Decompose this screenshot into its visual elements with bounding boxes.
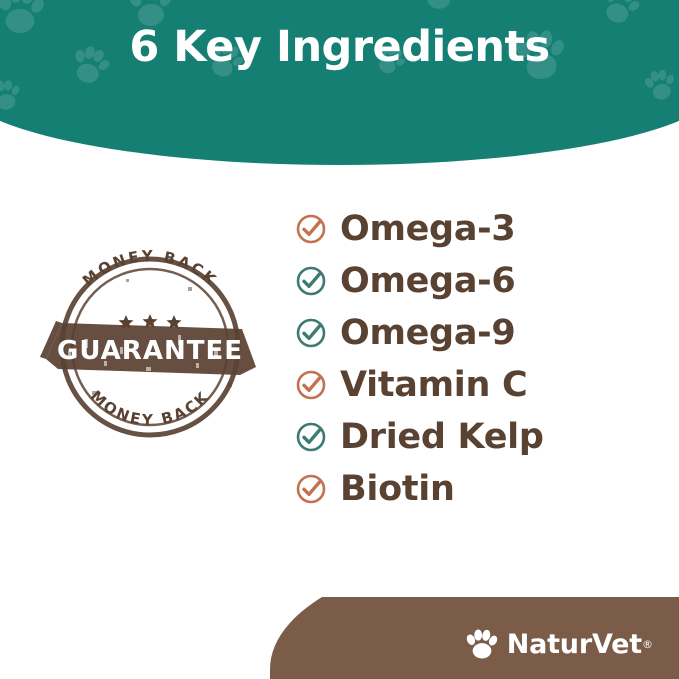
list-item: Vitamin C <box>296 361 636 409</box>
check-circle-icon <box>296 422 326 452</box>
ingredient-label: Vitamin C <box>340 365 527 405</box>
money-back-guarantee-stamp: GUARANTEE MONEY BACK MONEY BACK <box>28 243 273 443</box>
brand-lockup: NaturVet ® <box>465 627 653 661</box>
check-circle-icon <box>296 318 326 348</box>
header-banner: 6 Key Ingredients <box>0 0 679 165</box>
ingredient-label: Omega-9 <box>340 313 515 353</box>
ingredient-label: Biotin <box>340 469 455 509</box>
check-circle-icon <box>296 214 326 244</box>
key-ingredients-list: Omega-3 Omega-6 Omega-9 Vitamin C <box>296 205 636 517</box>
check-circle-icon <box>296 474 326 504</box>
list-item: Omega-9 <box>296 309 636 357</box>
list-item: Omega-6 <box>296 257 636 305</box>
paw-print-icon <box>465 627 499 661</box>
product-infographic: 6 Key Ingredients GUARANTEE MONE <box>0 0 679 679</box>
check-circle-icon <box>296 370 326 400</box>
list-item: Dried Kelp <box>296 413 636 461</box>
list-item: Biotin <box>296 465 636 513</box>
ingredient-label: Omega-3 <box>340 209 515 249</box>
check-circle-icon <box>296 266 326 296</box>
ingredient-label: Dried Kelp <box>340 417 544 457</box>
page-title: 6 Key Ingredients <box>0 22 679 72</box>
list-item: Omega-3 <box>296 205 636 253</box>
ingredient-label: Omega-6 <box>340 261 515 301</box>
footer-bar: NaturVet ® <box>0 597 679 679</box>
registered-mark: ® <box>642 638 653 651</box>
brand-name: NaturVet <box>507 629 642 660</box>
